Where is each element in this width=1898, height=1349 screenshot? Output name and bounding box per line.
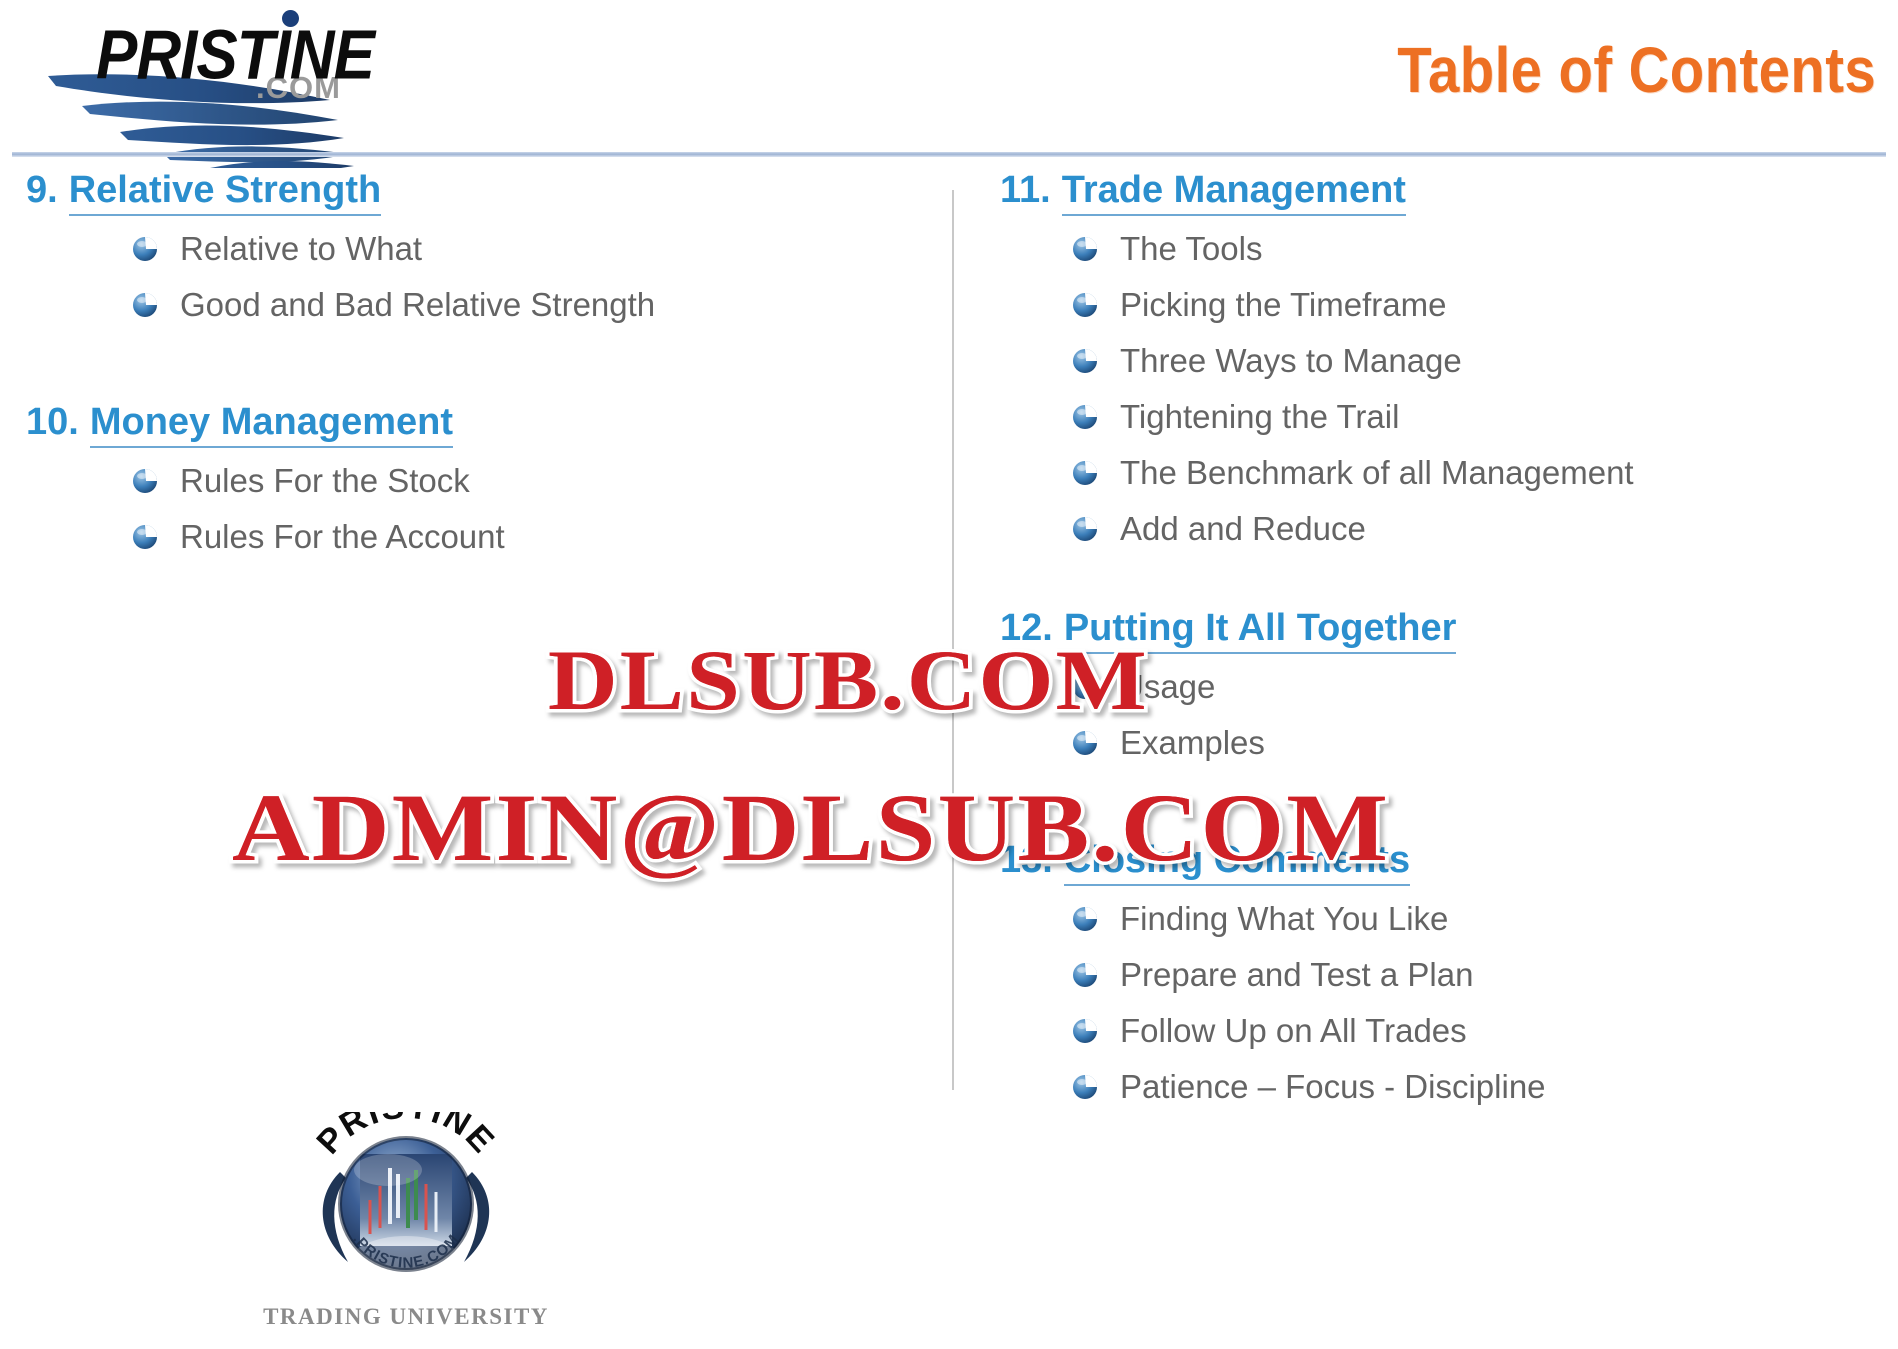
list-item-label: Tightening the Trail xyxy=(1120,398,1399,436)
sphere-bullet-icon xyxy=(132,236,158,262)
toc-heading-link[interactable]: 9. Relative Strength xyxy=(26,168,786,216)
seal-icon: PRISTINE .PRISTINE.COM xyxy=(256,1112,556,1308)
list-item-label: The Tools xyxy=(1120,230,1262,268)
logo-wordmark: PRISTINE xyxy=(96,16,374,96)
pristine-wing-logo: PRISTINE .COM xyxy=(38,8,458,168)
section-gap xyxy=(1000,566,1870,606)
list-item-label: Relative to What xyxy=(180,230,422,268)
toc-column-left: 9. Relative Strength xyxy=(26,168,786,574)
list-item[interactable]: Add and Reduce xyxy=(1000,510,1870,548)
section-gap xyxy=(26,342,786,400)
sphere-bullet-icon xyxy=(1072,906,1098,932)
sphere-bullet-icon xyxy=(132,524,158,550)
toc-heading-title: Trade Management xyxy=(1062,168,1406,216)
watermark-text-fill: ADMIN@DLSUB.COM xyxy=(232,772,1390,883)
toc-subitem-list: Finding What You Like Prepare and Test a… xyxy=(1000,900,1870,1106)
toc-heading-link[interactable]: 11. Trade Management xyxy=(1000,168,1870,216)
toc-subitem-list: Relative to What Good and Bad Relative S… xyxy=(26,230,786,324)
list-item[interactable]: Picking the Timeframe xyxy=(1000,286,1870,324)
list-item-label: Good and Bad Relative Strength xyxy=(180,286,655,324)
sphere-bullet-icon xyxy=(1072,292,1098,318)
list-item-label: Prepare and Test a Plan xyxy=(1120,956,1473,994)
list-item[interactable]: Tightening the Trail xyxy=(1000,398,1870,436)
list-item[interactable]: Patience – Focus - Discipline xyxy=(1000,1068,1870,1106)
toc-heading-link[interactable]: 10. Money Management xyxy=(26,400,786,448)
list-item[interactable]: Relative to What xyxy=(26,230,786,268)
list-item-label: Finding What You Like xyxy=(1120,900,1448,938)
list-item[interactable]: Prepare and Test a Plan xyxy=(1000,956,1870,994)
sphere-bullet-icon xyxy=(132,468,158,494)
toc-section-11: 11. Trade Management The Tools xyxy=(1000,168,1870,548)
toc-heading-number: 11. xyxy=(1000,168,1051,212)
list-item-label: Rules For the Account xyxy=(180,518,505,556)
sphere-bullet-icon xyxy=(1072,236,1098,262)
toc-section-10: 10. Money Management Rules For the Stock xyxy=(26,400,786,556)
seal-caption: TRADING UNIVERSITY xyxy=(256,1304,556,1330)
toc-subitem-list: Rules For the Stock Rules For the Accoun… xyxy=(26,462,786,556)
list-item[interactable]: Finding What You Like xyxy=(1000,900,1870,938)
toc-subitem-list: The Tools Picking the Timeframe xyxy=(1000,230,1870,548)
list-item-label: Follow Up on All Trades xyxy=(1120,1012,1467,1050)
list-item[interactable]: Rules For the Account xyxy=(26,518,786,556)
sphere-bullet-icon xyxy=(1072,962,1098,988)
list-item[interactable]: The Benchmark of all Management xyxy=(1000,454,1870,492)
slide-header: PRISTINE .COM Table of Contents xyxy=(0,0,1898,188)
toc-heading-number: 9. xyxy=(26,168,58,212)
list-item[interactable]: Rules For the Stock xyxy=(26,462,786,500)
list-item-label: Picking the Timeframe xyxy=(1120,286,1446,324)
list-item-label: Add and Reduce xyxy=(1120,510,1366,548)
list-item-label: The Benchmark of all Management xyxy=(1120,454,1634,492)
list-item-label: Rules For the Stock xyxy=(180,462,470,500)
sphere-bullet-icon xyxy=(1072,348,1098,374)
list-item[interactable]: Good and Bad Relative Strength xyxy=(26,286,786,324)
toc-heading-title: Relative Strength xyxy=(69,168,382,216)
pristine-university-seal: PRISTINE .PRISTINE.COM TRADING UNIVERSIT… xyxy=(256,1112,556,1342)
list-item[interactable]: The Tools xyxy=(1000,230,1870,268)
toc-section-9: 9. Relative Strength xyxy=(26,168,786,324)
slide-canvas: PRISTINE .COM Table of Contents 9. Relat… xyxy=(0,0,1898,1349)
header-divider-rule xyxy=(12,152,1886,157)
sphere-bullet-icon xyxy=(1072,730,1098,756)
list-item[interactable]: Three Ways to Manage xyxy=(1000,342,1870,380)
sphere-bullet-icon xyxy=(1072,516,1098,542)
toc-heading-title: Money Management xyxy=(90,400,453,448)
sphere-bullet-icon xyxy=(1072,404,1098,430)
toc-heading-number: 10. xyxy=(26,400,79,444)
sphere-bullet-icon xyxy=(132,292,158,318)
watermark-admin-dlsub: ADMIN@DLSUB.COM ADMIN@DLSUB.COM xyxy=(232,772,1390,883)
list-item[interactable]: Follow Up on All Trades xyxy=(1000,1012,1870,1050)
watermark-text-fill: DLSUB.COM xyxy=(548,630,1149,730)
sphere-bullet-icon xyxy=(1072,1018,1098,1044)
list-item-label: Patience – Focus - Discipline xyxy=(1120,1068,1546,1106)
watermark-dlsub: DLSUB.COM DLSUB.COM xyxy=(548,630,1149,730)
page-title: Table of Contents xyxy=(1397,38,1876,102)
sphere-bullet-icon xyxy=(1072,460,1098,486)
sphere-bullet-icon xyxy=(1072,1074,1098,1100)
logo-dot-accent xyxy=(282,10,299,27)
list-item-label: Three Ways to Manage xyxy=(1120,342,1462,380)
